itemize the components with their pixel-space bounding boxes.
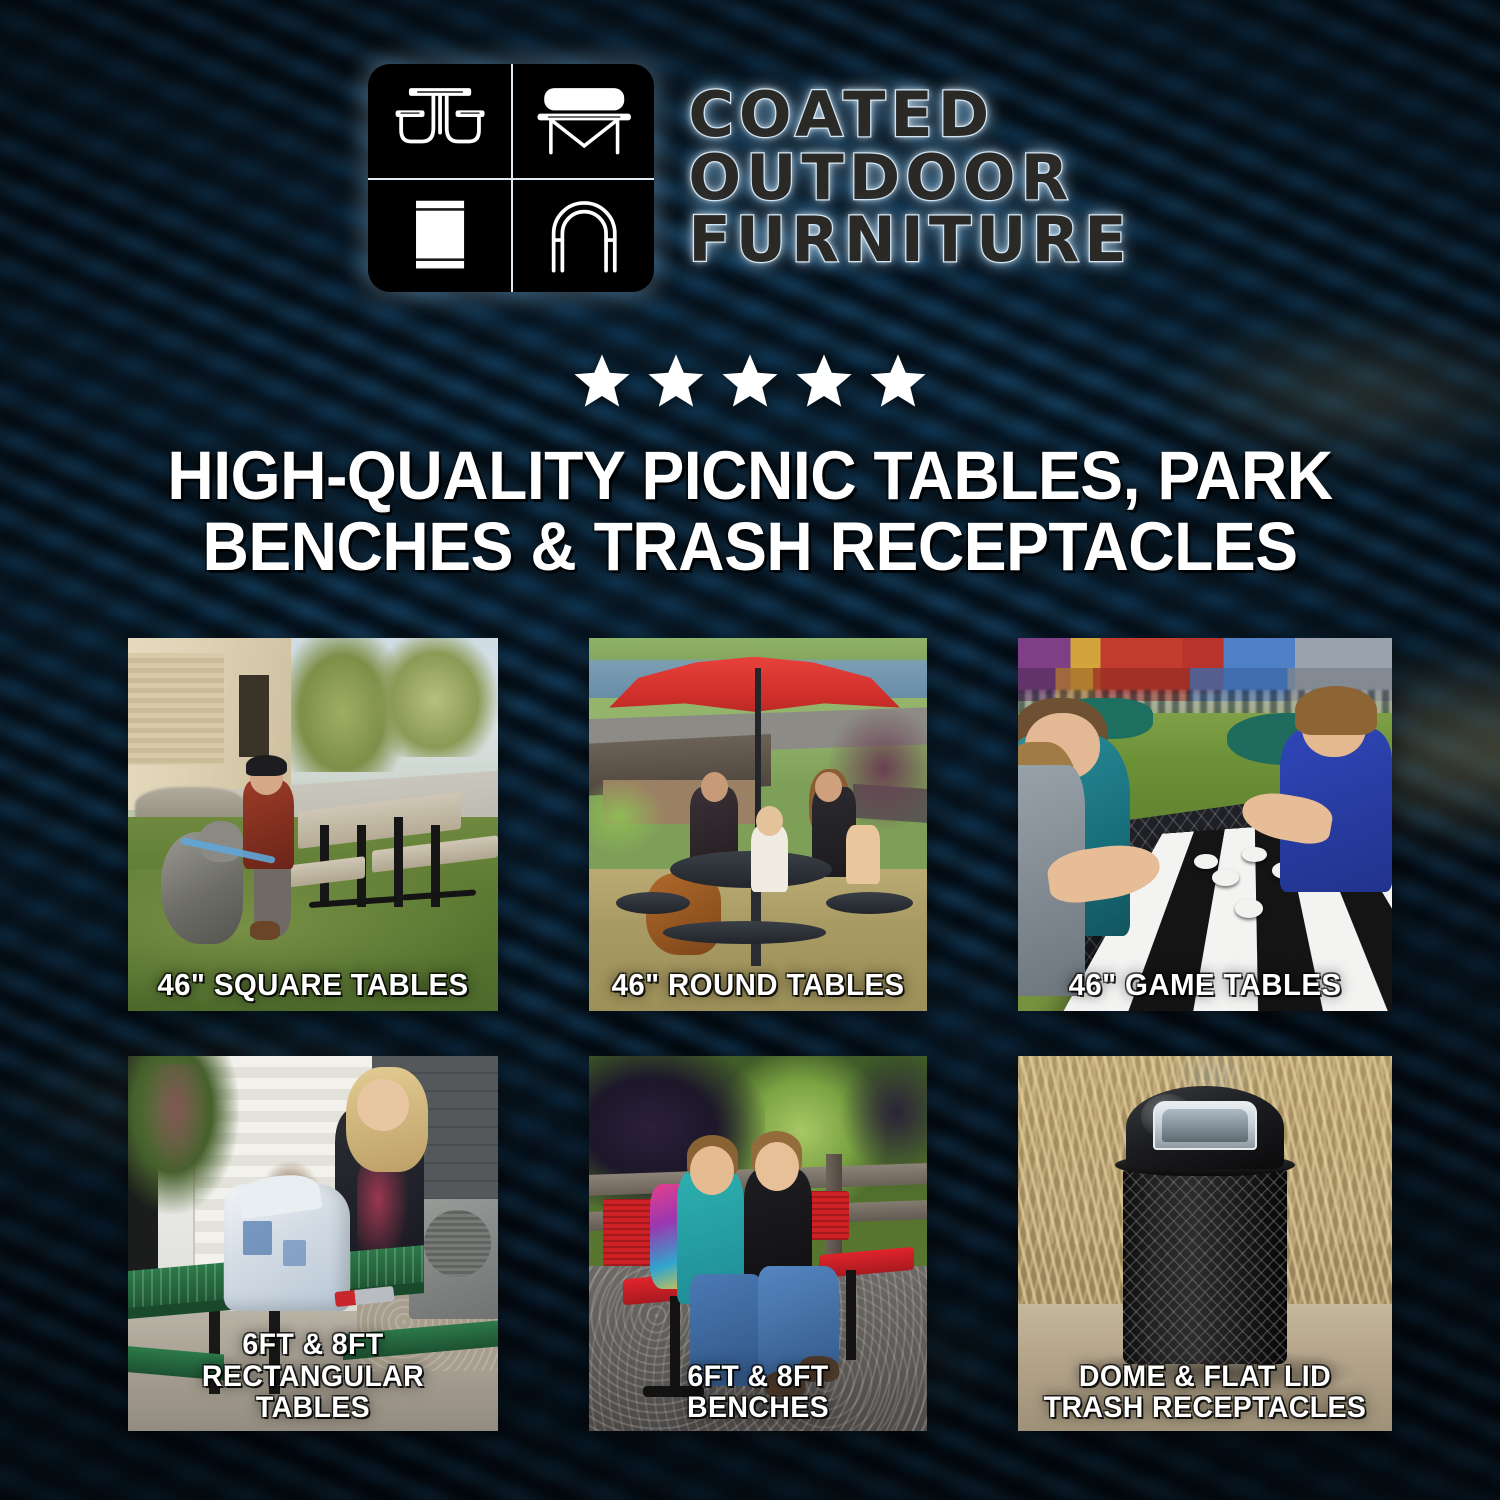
brand-logo: COATED OUTDOOR FURNITURE — [0, 64, 1500, 292]
product-tile-game-tables[interactable]: 46" GAME TABLES — [1018, 638, 1392, 1011]
logo-word-coated: COATED — [688, 85, 1131, 146]
caption-line: 46" GAME TABLES — [1033, 969, 1377, 1001]
caption-line: 46" SQUARE TABLES — [143, 969, 483, 1001]
park-bench-icon — [511, 64, 654, 178]
product-photo-square-tables — [128, 638, 498, 1011]
caption-line: RECTANGULAR TABLES — [143, 1361, 483, 1423]
product-tile-round-tables[interactable]: 46" ROUND TABLES — [589, 638, 927, 1011]
product-tile-grid: 46" SQUARE TABLES — [128, 638, 1374, 1431]
headline-line-2: BENCHES & TRASH RECEPTACLES — [118, 511, 1383, 582]
product-tile-trash-receptacles[interactable]: DOME & FLAT LID TRASH RECEPTACLES — [1018, 1056, 1392, 1431]
star-icon — [868, 352, 928, 410]
headline-line-1: HIGH-QUALITY PICNIC TABLES, PARK — [167, 437, 1332, 514]
product-photo-round-tables — [589, 638, 927, 1011]
caption-line: TRASH RECEPTACLES — [1033, 1392, 1377, 1423]
logo-word-outdoor: OUTDOOR — [688, 148, 1131, 209]
product-tile-rectangular-tables[interactable]: 6FT & 8FT RECTANGULAR TABLES — [128, 1056, 498, 1431]
logo-word-furniture: FURNITURE — [688, 210, 1131, 271]
picnic-table-icon — [368, 64, 511, 178]
product-tile-benches[interactable]: 6FT & 8FT BENCHES — [589, 1056, 927, 1431]
trash-receptacle-icon — [368, 178, 511, 292]
caption-line: 6FT & 8FT — [143, 1329, 483, 1360]
tile-caption: DOME & FLAT LID TRASH RECEPTACLES — [1027, 1361, 1382, 1423]
caption-line: BENCHES — [603, 1392, 913, 1423]
logo-mark — [368, 64, 654, 292]
tile-caption: 6FT & 8FT BENCHES — [597, 1361, 918, 1423]
star-icon — [794, 352, 854, 410]
tile-caption: 46" SQUARE TABLES — [137, 969, 489, 1001]
product-tile-square-tables[interactable]: 46" SQUARE TABLES — [128, 638, 498, 1011]
star-icon — [646, 352, 706, 410]
star-rating — [0, 352, 1500, 410]
tile-caption: 46" GAME TABLES — [1027, 969, 1382, 1001]
caption-line: 46" ROUND TABLES — [603, 969, 913, 1001]
tile-caption: 6FT & 8FT RECTANGULAR TABLES — [137, 1329, 489, 1423]
product-photo-game-tables — [1018, 638, 1392, 1011]
star-icon — [572, 352, 632, 410]
caption-line: 6FT & 8FT — [603, 1361, 913, 1392]
page-title: HIGH-QUALITY PICNIC TABLES, PARK BENCHES… — [118, 440, 1383, 582]
caption-line: DOME & FLAT LID — [1033, 1361, 1377, 1392]
logo-wordmark: COATED OUTDOOR FURNITURE — [688, 85, 1131, 271]
star-icon — [720, 352, 780, 410]
tile-caption: 46" ROUND TABLES — [597, 969, 918, 1001]
bike-rack-icon — [511, 178, 654, 292]
promotional-poster: COATED OUTDOOR FURNITURE HIGH-QUALITY PI… — [0, 0, 1500, 1500]
